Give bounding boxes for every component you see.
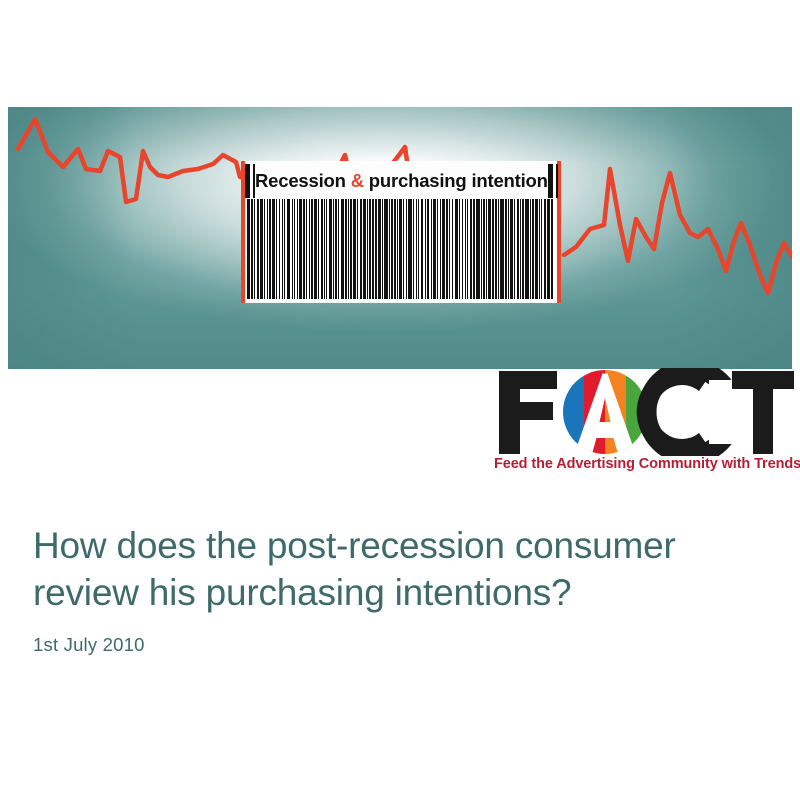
recession-banner: Recession & purchasing intention — [8, 107, 792, 369]
barcode-title-row: Recession & purchasing intention — [245, 163, 557, 199]
trendline-right-path — [564, 169, 792, 293]
barcode-guard-bar-left-1 — [245, 164, 250, 198]
barcode-bars — [247, 199, 555, 299]
page-title-line-1: How does the post-recession consumer — [33, 525, 676, 566]
title-block: How does the post-recession consumer rev… — [33, 522, 763, 656]
barcode-graphic: Recession & purchasing intention — [241, 161, 561, 303]
page-title: How does the post-recession consumer rev… — [33, 522, 763, 616]
fact-tagline: Feed the Advertising Community with Tren… — [494, 457, 794, 472]
letter-a-colorwheel — [563, 370, 648, 454]
fact-logo: Feed the Advertising Community with Tren… — [494, 368, 794, 480]
document-date: 1st July 2010 — [33, 616, 763, 656]
barcode-guard-bar-right-2 — [556, 164, 558, 198]
fact-wordmark — [494, 368, 794, 456]
letter-f — [499, 371, 557, 454]
barcode-gap — [553, 199, 554, 299]
barcode-guard-bar-right-1 — [548, 164, 553, 198]
page-title-line-2: review his purchasing intentions? — [33, 572, 571, 613]
barcode-heading-text: Recession & purchasing intention — [255, 172, 548, 191]
